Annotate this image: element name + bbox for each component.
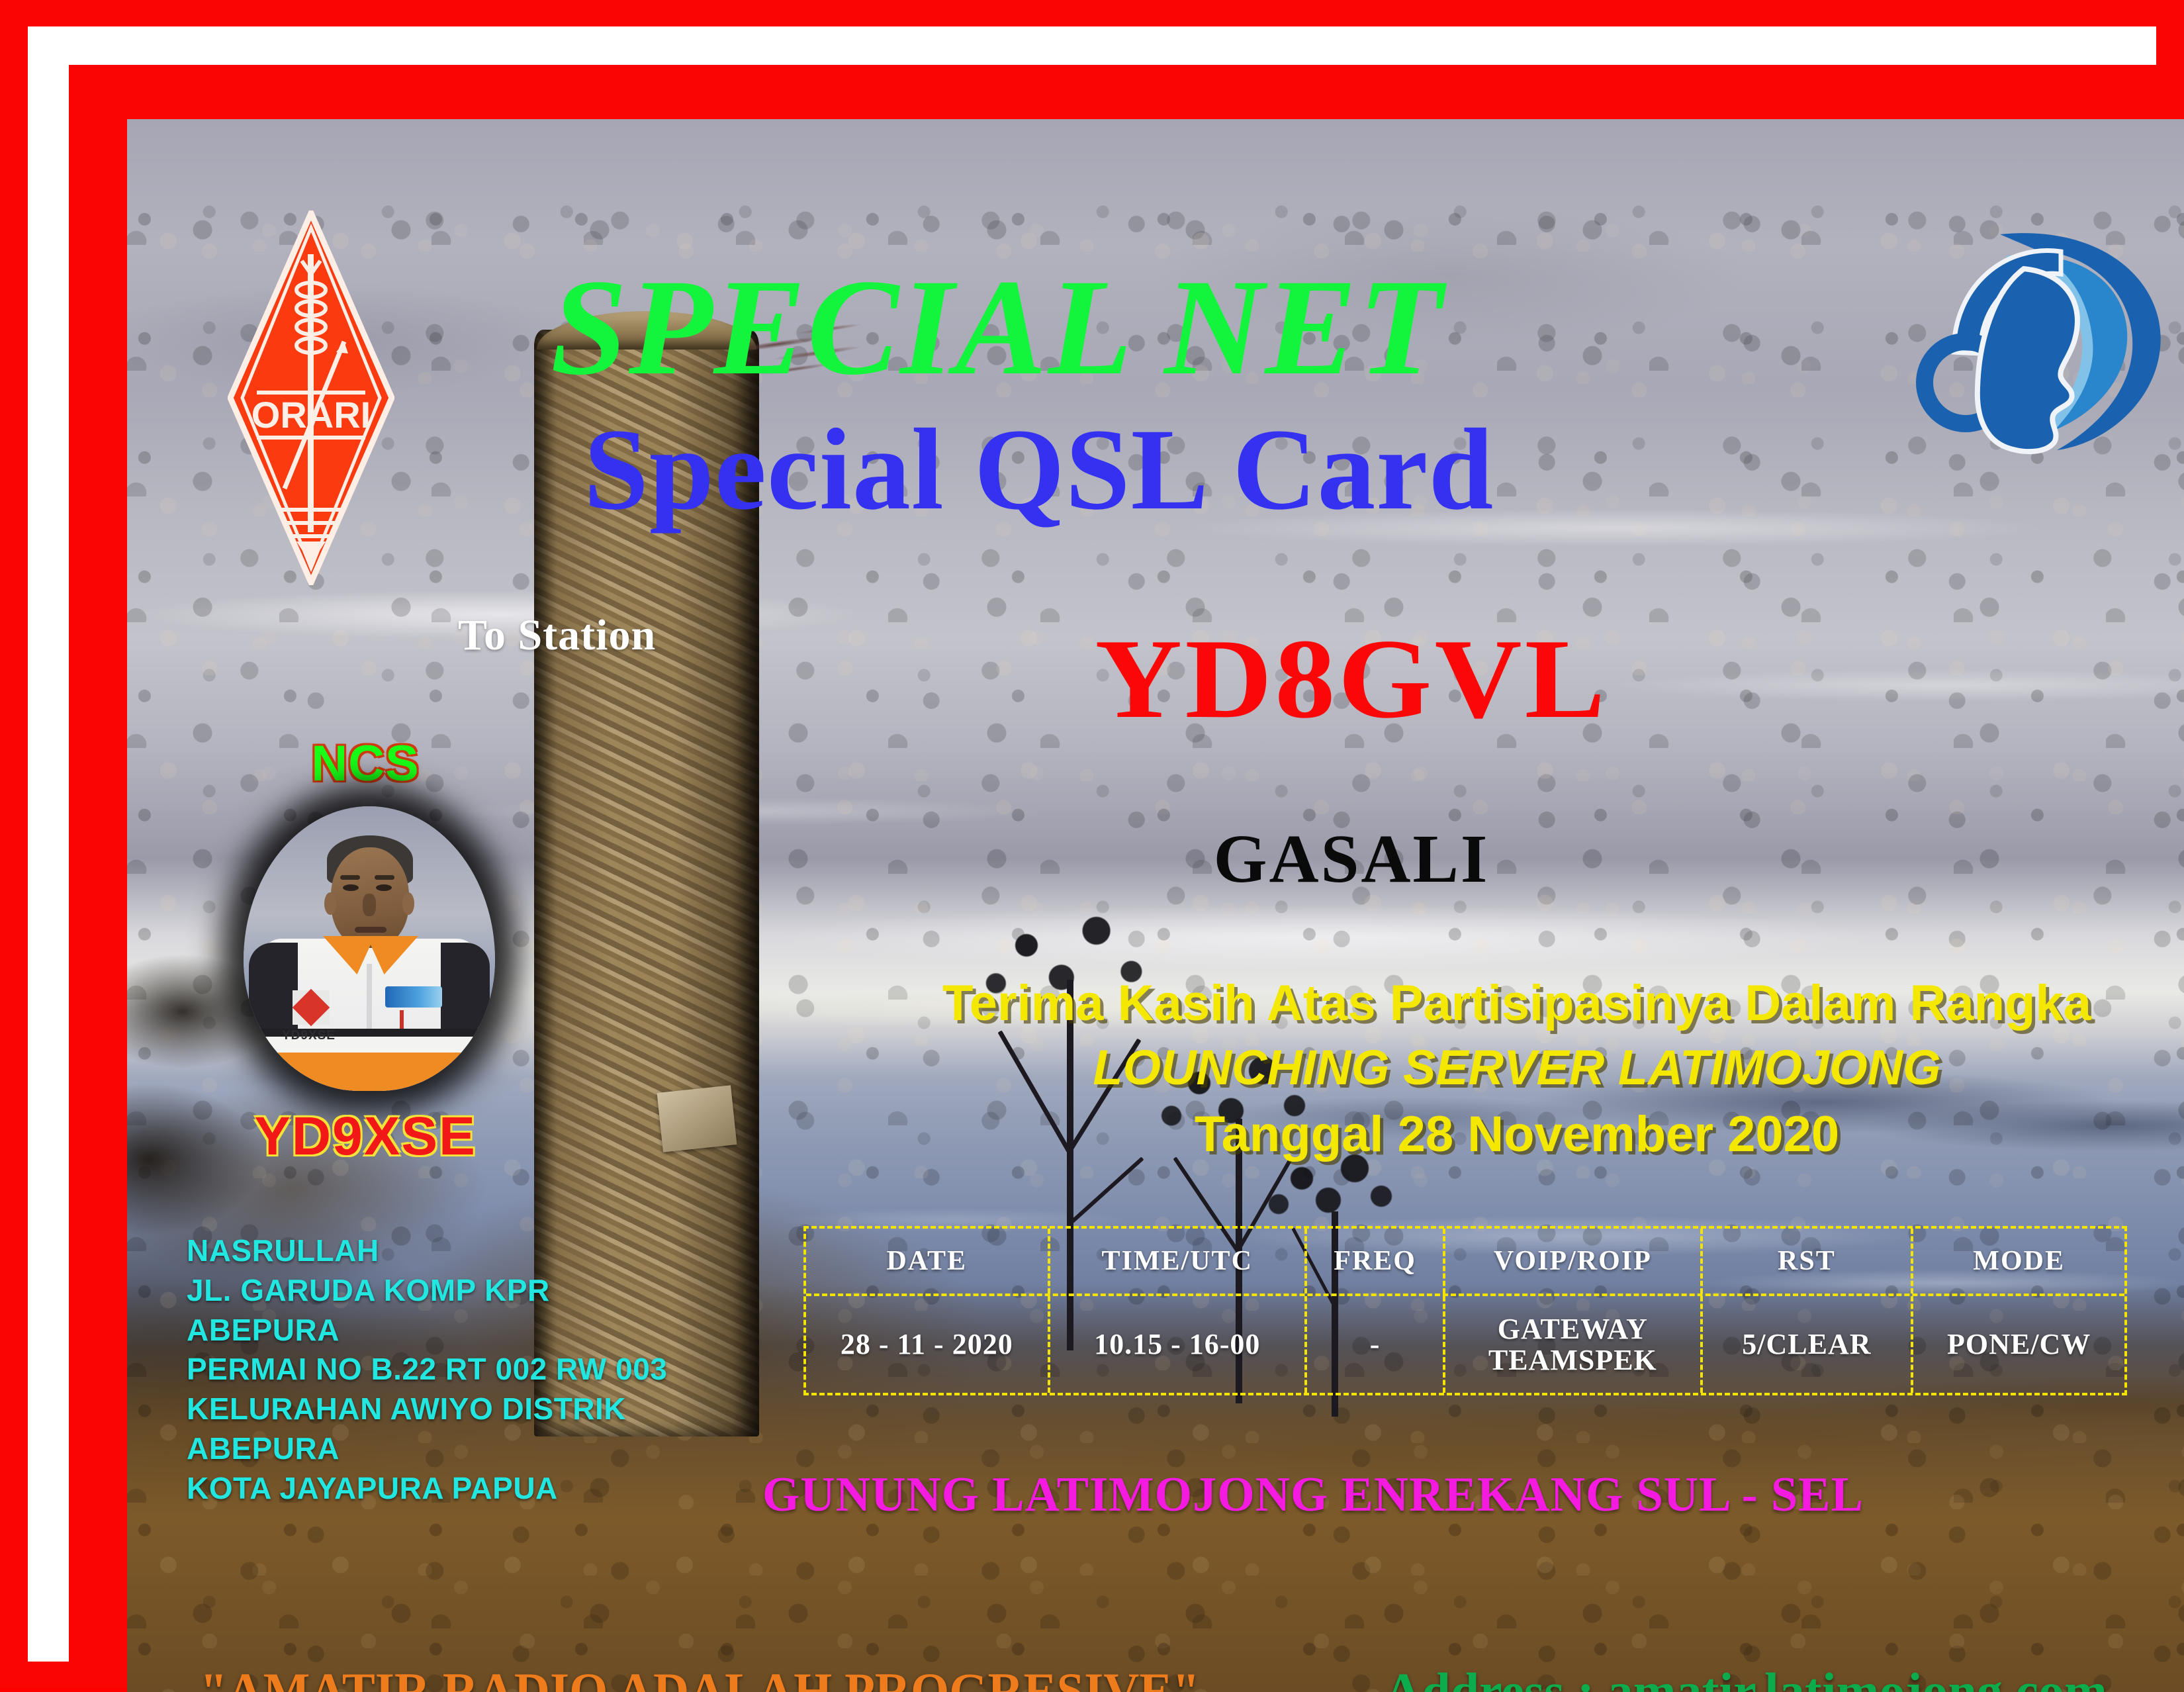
cell-voip: GATEWAY TEAMSPEK: [1445, 1296, 1702, 1393]
cell-mode: PONE/CW: [1913, 1296, 2124, 1393]
column-header-voip: VOIP/ROIP: [1445, 1229, 1702, 1293]
avatar-ear-right: [402, 892, 414, 915]
mountain-location-line: GUNUNG LATIMOJONG ENREKANG SUL - SEL: [762, 1467, 2034, 1523]
frame-inner-red-band: ORARI: [69, 65, 2171, 1676]
address-line: ABEPURA: [187, 1429, 736, 1469]
ncs-callsign: YD9XSE: [180, 1105, 551, 1168]
tree-branch: [1068, 1156, 1144, 1226]
column-header-rst: RST: [1703, 1229, 1914, 1293]
column-header-date: DATE: [806, 1229, 1050, 1293]
table-row: 28 - 11 - 2020 10.15 - 16-00 - GATEWAY T…: [806, 1296, 2124, 1393]
web-address-line: Address : amatir.latimojong.com: [1385, 1662, 2107, 1692]
to-station-label: To Station: [458, 610, 656, 661]
address-line: ABEPURA: [187, 1311, 736, 1350]
address-line: KELURAHAN AWIYO DISTRIK: [187, 1389, 736, 1429]
cell-freq: -: [1307, 1296, 1445, 1393]
thanks-line-2-event: LOUNCHING SERVER LATIMOJONG: [868, 1039, 2165, 1096]
column-header-freq: FREQ: [1307, 1229, 1445, 1293]
avatar-mouth: [355, 927, 387, 933]
avatar-orange-band: [259, 1053, 479, 1091]
orari-diamond-logo: ORARI: [228, 211, 394, 585]
cell-rst: 5/CLEAR: [1703, 1296, 1914, 1393]
avatar-nose: [363, 894, 376, 916]
avatar-brow-right: [375, 875, 394, 880]
station-operator-name: GASALI: [908, 825, 1795, 894]
address-line: KOTA JAYAPURA PAPUA: [187, 1469, 736, 1509]
address-line: PERMAI NO B.22 RT 002 RW 003: [187, 1350, 736, 1389]
column-header-time: TIME/UTC: [1050, 1229, 1307, 1293]
cell-time: 10.15 - 16-00: [1050, 1296, 1307, 1393]
ncs-operator-block: NCS: [180, 735, 551, 1198]
column-header-mode: MODE: [1913, 1229, 2124, 1293]
avatar-brow-left: [340, 875, 360, 880]
address-line: NASRULLAH: [187, 1231, 736, 1271]
orari-logo-text: ORARI: [251, 394, 371, 436]
operator-address-block: NASRULLAH JL. GARUDA KOMP KPR ABEPURA PE…: [187, 1231, 736, 1509]
station-callsign: YD8GVL: [882, 622, 1821, 736]
avatar-eye-right: [376, 884, 392, 891]
cairn-plaque: [657, 1085, 737, 1152]
card-slogan: "AMATIR RADIO ADALAH PROGRESIVE": [200, 1662, 1200, 1692]
avatar-uniform-callsign: YD9XSE: [282, 1029, 336, 1043]
page-subtitle-qsl-card: Special QSL Card: [584, 410, 1841, 530]
ncs-operator-avatar: YD9XSE: [244, 806, 495, 1091]
address-line: JL. GARUDA KOMP KPR: [187, 1271, 736, 1311]
thanks-line-3-date: Tanggal 28 November 2020: [868, 1105, 2165, 1163]
card-photo-background: ORARI: [127, 119, 2184, 1692]
avatar-chest-badge: [385, 986, 442, 1008]
page-title-special-net: SPECIAL NET: [551, 257, 1848, 397]
table-header-row: DATE TIME/UTC FREQ VOIP/ROIP RST MODE: [806, 1229, 2124, 1296]
thanks-line-1: Terima Kasih Atas Partisipasinya Dalam R…: [868, 974, 2165, 1032]
frame-white-gap: ORARI: [28, 26, 2156, 1662]
ncs-role-label: NCS: [180, 735, 551, 792]
headset-profile-logo: [1907, 212, 2172, 457]
avatar-eye-left: [343, 884, 359, 891]
qsl-card-outer-frame: ORARI: [0, 0, 2184, 1688]
avatar-ear-left: [324, 892, 336, 915]
cell-date: 28 - 11 - 2020: [806, 1296, 1050, 1393]
qso-details-table: DATE TIME/UTC FREQ VOIP/ROIP RST MODE 28…: [803, 1226, 2127, 1395]
